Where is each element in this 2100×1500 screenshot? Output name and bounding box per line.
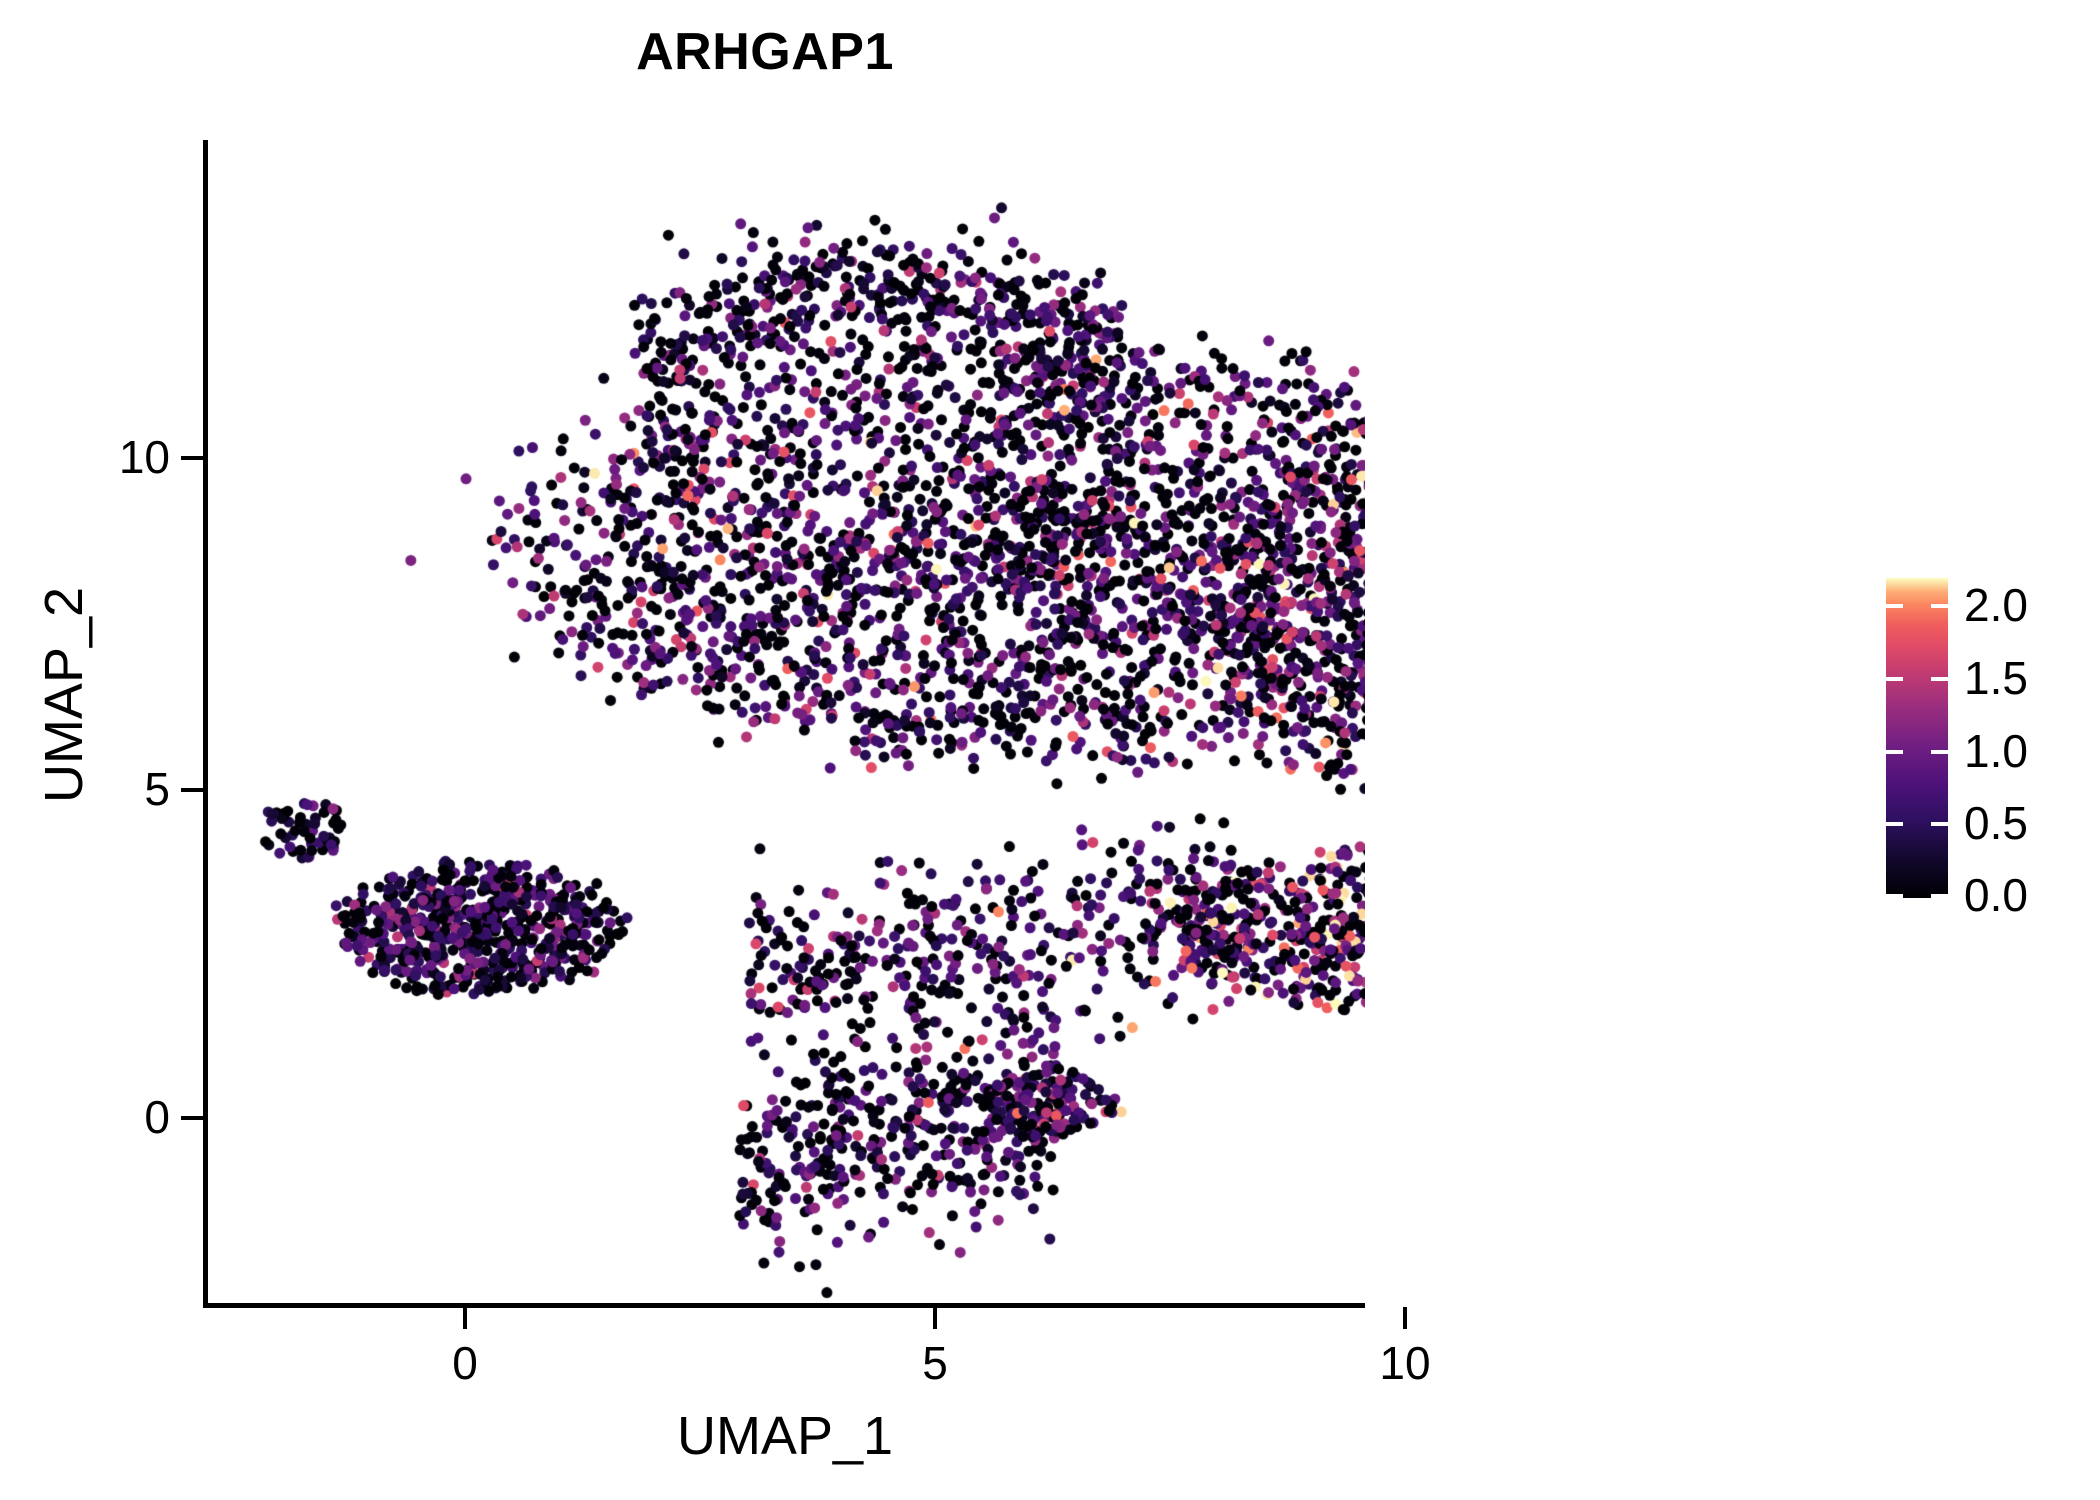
y-axis-line: [203, 140, 208, 1308]
colorbar-label-1_0: 1.0: [1964, 724, 2028, 778]
legend-colorbar: 2.0 1.5 1.0 0.5 0.0: [1886, 578, 2086, 900]
x-axis-line: [203, 1303, 1365, 1308]
x-tick-label-0: 0: [405, 1336, 525, 1390]
x-tick-mark-5: [933, 1307, 937, 1329]
colorbar-tick-1_5-right: [1931, 677, 1948, 681]
colorbar-label-1_5: 1.5: [1964, 651, 2028, 705]
colorbar-tick-0_0-left: [1886, 894, 1903, 898]
umap-feature-plot: ARHGAP1 10 5 0 0 5 10 UMAP_2 UMAP_1 2.0 …: [0, 0, 2100, 1500]
colorbar-tick-0_5-left: [1886, 822, 1903, 826]
colorbar-tick-1_5-left: [1886, 677, 1903, 681]
colorbar-label-0_5: 0.5: [1964, 796, 2028, 850]
y-tick-mark-0: [181, 1116, 203, 1120]
y-axis-title: UMAP_2: [33, 395, 95, 995]
scatter-plot-canvas: [205, 140, 1365, 1305]
x-tick-label-10: 10: [1345, 1336, 1465, 1390]
colorbar-tick-1_0-right: [1931, 750, 1948, 754]
x-tick-mark-0: [463, 1307, 467, 1329]
colorbar-tick-2_0-right: [1931, 604, 1948, 608]
y-tick-label-0: 0: [60, 1090, 170, 1144]
colorbar-gradient: [1886, 578, 1948, 898]
colorbar-tick-0_0-right: [1931, 894, 1948, 898]
colorbar-tick-1_0-left: [1886, 750, 1903, 754]
y-tick-mark-5: [181, 788, 203, 792]
colorbar-tick-2_0-left: [1886, 604, 1903, 608]
colorbar-label-2_0: 2.0: [1964, 578, 2028, 632]
x-axis-title: UMAP_1: [205, 1405, 1365, 1467]
y-tick-mark-10: [181, 456, 203, 460]
colorbar-tick-0_5-right: [1931, 822, 1948, 826]
page-title: ARHGAP1: [205, 22, 1325, 82]
x-tick-mark-10: [1403, 1307, 1407, 1329]
colorbar-label-0_0: 0.0: [1964, 868, 2028, 922]
x-tick-label-5: 5: [875, 1336, 995, 1390]
plot-panel: [205, 140, 1365, 1305]
